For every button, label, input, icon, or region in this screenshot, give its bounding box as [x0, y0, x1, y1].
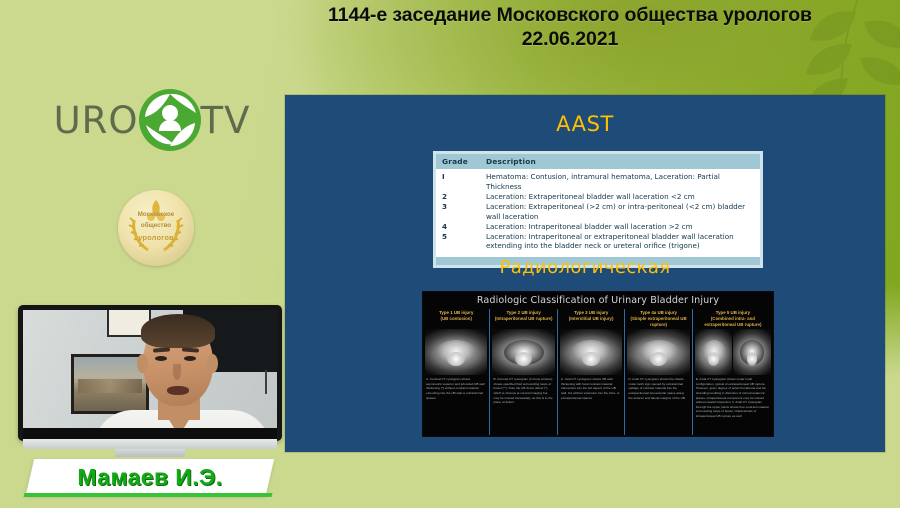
ct-image-group: [695, 329, 771, 375]
figure-column-type3: Type 3 UB injury (Interstitial UB injury…: [557, 309, 624, 435]
column-caption: B. Coronal CT cystogram (in bone window)…: [492, 377, 554, 435]
badge-text: Московское общество урологов: [118, 210, 194, 245]
column-subtitle: (Intraperitoneal UB rupture): [492, 316, 554, 322]
ct-image-group: [425, 329, 487, 375]
monitor-bezel: [18, 305, 282, 441]
figure-column-type2: Type 2 UB injury (Intraperitoneal UB rup…: [489, 309, 556, 435]
speaker-ear-left: [137, 354, 148, 373]
table-row: 4 Laceration: Intraperitoneal bladder wa…: [442, 222, 756, 232]
column-heading: Type 1 UB injury (UB contusion): [425, 309, 487, 328]
ct-scan-image: [492, 329, 554, 375]
column-title: Type 5 UB injury: [716, 310, 750, 315]
ct-scan-image: [627, 329, 689, 375]
grade-description: Laceration: Intraperitoneal or extraperi…: [486, 232, 756, 251]
speaker-eye-right: [184, 356, 196, 361]
logo-text-tv: TV: [201, 99, 251, 142]
slide-subtitle: Радиологическая: [285, 257, 885, 278]
column-subtitle: (Interstitial UB injury): [560, 316, 622, 322]
table-row: 5 Laceration: Intraperitoneal or extrape…: [442, 232, 756, 251]
speaker-ear-right: [207, 354, 218, 373]
grade-value: 2: [442, 192, 486, 202]
column-heading: Type 5 UB injury (Combined intra- and ex…: [695, 309, 771, 328]
badge-line3: урологов: [118, 232, 194, 245]
presentation-slide[interactable]: AAST Grade Description I Hematoma: Contu…: [285, 95, 885, 452]
ct-image-group: [560, 329, 622, 375]
table-header-grade: Grade: [442, 157, 486, 166]
column-title: Type 3 UB injury: [574, 310, 608, 315]
column-caption: A. Coronal CT cystogram shows asymmetric…: [425, 377, 487, 435]
column-subtitle: (Simple extraperitoneal UB rupture): [627, 316, 689, 328]
event-title: 1144-е заседание Московского общества ур…: [250, 4, 890, 52]
radiologic-classification-figure: Radiologic Classification of Urinary Bla…: [422, 291, 774, 437]
column-caption: C. Axial CT cystogram shows UB wall thic…: [560, 377, 622, 435]
speaker-name: Мамаев И.Э.: [30, 459, 270, 495]
grade-value: 4: [442, 222, 486, 232]
column-title: Type 4a UB injury: [640, 310, 677, 315]
figure-columns: Type 1 UB injury (UB contusion) A. Coron…: [423, 309, 773, 435]
column-caption: E. Axial CT cystogram shows molar tooth …: [695, 377, 771, 435]
grade-value: 5: [442, 232, 486, 251]
monitor-base-bar: [23, 439, 277, 449]
ct-scan-image: [733, 329, 771, 375]
urotv-circle-icon: [137, 87, 203, 153]
webcam-feed[interactable]: [23, 310, 277, 429]
speaker-hair: [141, 314, 215, 348]
ct-scan-image: [695, 329, 733, 375]
badge-line1: Московское: [138, 211, 174, 218]
presentation-frame: 1144-е заседание Московского общества ур…: [0, 0, 900, 508]
society-badge: Московское общество урологов: [118, 190, 194, 266]
column-title: Type 2 UB injury: [507, 310, 541, 315]
column-caption: D. Axial CT cystogram shows the classic …: [627, 377, 689, 435]
figure-column-type5: Type 5 UB injury (Combined intra- and ex…: [692, 309, 773, 435]
table-row: 3 Laceration: Extraperitoneal (>2 cm) or…: [442, 202, 756, 221]
speaker-video-monitor: [18, 305, 282, 455]
badge-line2: общество: [141, 222, 171, 229]
grade-description: Laceration: Extraperitoneal bladder wall…: [486, 192, 756, 202]
monitor-stand: [115, 449, 185, 457]
figure-title: Radiologic Classification of Urinary Bla…: [423, 292, 773, 309]
speaker-eye-left: [155, 356, 167, 361]
slide-title: AAST: [285, 112, 885, 136]
table-body: I Hematoma: Contusion, intramural hemato…: [436, 169, 760, 257]
grade-value: I: [442, 172, 486, 191]
figure-column-type1: Type 1 UB injury (UB contusion) A. Coron…: [423, 309, 489, 435]
speaker-nose: [173, 364, 181, 380]
ct-scan-image: [425, 329, 487, 375]
urotv-logo: URO TV: [52, 84, 252, 156]
ct-scan-image: [560, 329, 622, 375]
logo-text-uro: URO: [54, 99, 139, 142]
table-row: 2 Laceration: Extraperitoneal bladder wa…: [442, 192, 756, 202]
grade-description: Laceration: Extraperitoneal (>2 cm) or i…: [486, 202, 756, 221]
column-heading: Type 2 UB injury (Intraperitoneal UB rup…: [492, 309, 554, 328]
speaker-mouth: [167, 386, 189, 395]
grade-value: 3: [442, 202, 486, 221]
event-date: 22.06.2021: [250, 28, 890, 52]
table-row: I Hematoma: Contusion, intramural hemato…: [442, 172, 756, 191]
monitor-chin: [23, 428, 277, 439]
table-header-row: Grade Description: [436, 154, 760, 169]
column-title: Type 1 UB injury: [439, 310, 473, 315]
aast-grading-table: Grade Description I Hematoma: Contusion,…: [433, 151, 763, 268]
figure-column-type4a: Type 4a UB injury (Simple extraperitonea…: [624, 309, 691, 435]
grade-description: Laceration: Intraperitoneal bladder wall…: [486, 222, 756, 232]
column-subtitle: (Combined intra- and extraperitoneal UB …: [695, 316, 771, 328]
grade-description: Hematoma: Contusion, intramural hematoma…: [486, 172, 756, 191]
event-title-line1: 1144-е заседание Московского общества ур…: [328, 4, 812, 26]
column-heading: Type 4a UB injury (Simple extraperitonea…: [627, 309, 689, 328]
ct-image-group: [492, 329, 554, 375]
ct-image-group: [627, 329, 689, 375]
column-heading: Type 3 UB injury (Interstitial UB injury…: [560, 309, 622, 328]
column-subtitle: (UB contusion): [425, 316, 487, 322]
webcam-scene: [23, 310, 277, 429]
table-header-description: Description: [486, 157, 536, 166]
